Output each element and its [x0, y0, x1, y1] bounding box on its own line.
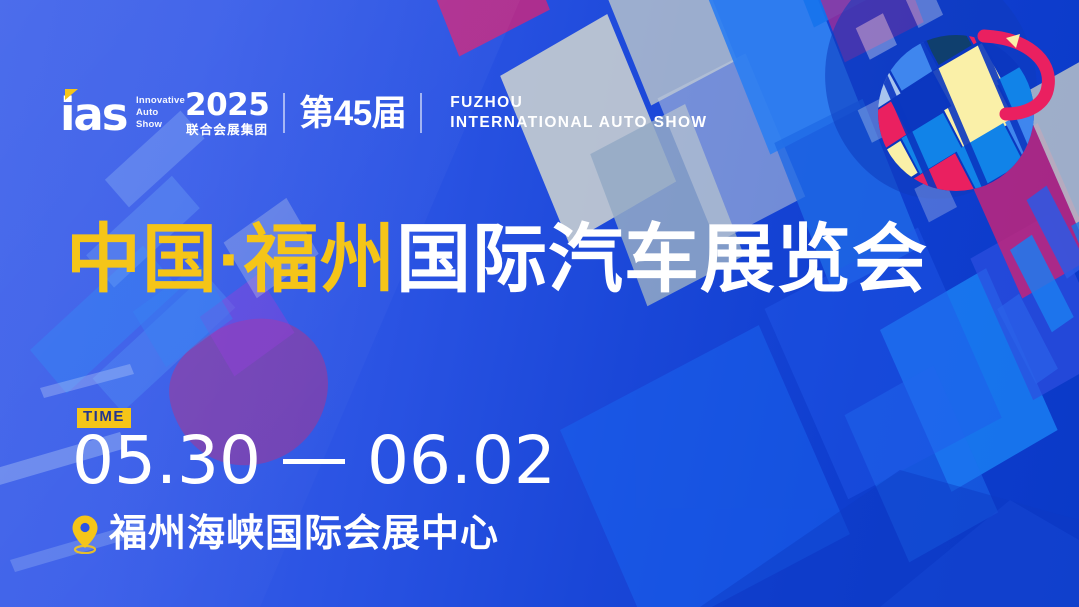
ias-tagline: Innovative Auto Show	[136, 95, 185, 132]
edition-label: 第45届	[299, 96, 406, 131]
ias-tagline-line-3: Show	[136, 119, 185, 130]
divider-right	[420, 93, 422, 133]
auto-show-poster: ias Innovative Auto Show 2025 联合会展集团 第45…	[0, 0, 1079, 607]
location-pin-icon	[70, 514, 100, 554]
ias-tagline-line-2: Auto	[136, 107, 185, 118]
poster-content: ias Innovative Auto Show 2025 联合会展集团 第45…	[0, 0, 1079, 607]
date-end: 06.02	[367, 428, 556, 494]
venue-row: 福州海峡国际会展中心	[70, 514, 499, 554]
title-highlight: 中国·福州	[66, 217, 396, 301]
page-title: 中国·福州国际汽车展览会	[66, 222, 928, 297]
organizer-group-name: 联合会展集团	[186, 124, 268, 137]
english-title: FUZHOU INTERNATIONAL AUTO SHOW	[450, 93, 707, 133]
event-dates: 05.30 06.02	[72, 428, 556, 494]
year-block: 2025 联合会展集团	[185, 90, 269, 137]
date-start: 05.30	[72, 428, 261, 494]
english-event-name: INTERNATIONAL AUTO SHOW	[450, 113, 707, 133]
ias-tagline-line-1: Innovative	[136, 95, 185, 106]
divider-left	[283, 93, 285, 133]
title-rest: 国际汽车展览会	[396, 217, 928, 301]
ias-wordmark: ias	[60, 94, 127, 137]
venue-name: 福州海峡国际会展中心	[109, 515, 499, 553]
year-number: 2025	[185, 90, 269, 121]
brand-header: ias Innovative Auto Show 2025 联合会展集团 第45…	[60, 84, 707, 142]
date-separator	[283, 459, 345, 464]
english-city: FUZHOU	[450, 93, 707, 113]
ias-logo: ias	[60, 89, 128, 137]
ias-flag-icon	[65, 89, 78, 100]
